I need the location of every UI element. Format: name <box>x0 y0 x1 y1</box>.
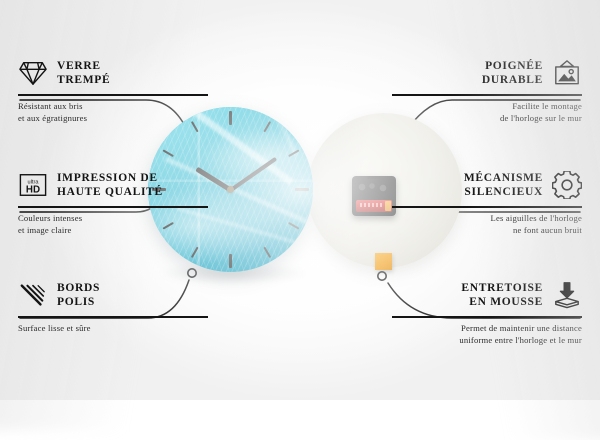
feature-header: BORDS POLIS <box>18 278 208 312</box>
aa-battery <box>356 200 392 212</box>
feature-desc-line2: ne font aucun bruit <box>513 225 582 235</box>
feature-title: VERRE TREMPÉ <box>57 59 110 87</box>
feature-title-line1: POIGNÉE <box>485 60 543 72</box>
battery-label-stripes <box>360 203 384 207</box>
feature-divider <box>18 206 208 208</box>
feature-title-line2: TREMPÉ <box>57 74 110 86</box>
clock-mechanism <box>352 176 396 216</box>
feature-title-line2: HAUTE QUALITÉ <box>57 186 163 198</box>
feature-title: ENTRETOISE EN MOUSSE <box>461 281 543 309</box>
connector-dot-mecanisme <box>409 181 417 189</box>
foam-spacer-arrow-icon <box>552 281 582 309</box>
connector-line-mecanisme <box>418 192 580 212</box>
feature-title-line2: EN MOUSSE <box>469 296 543 308</box>
feature-divider <box>392 206 582 208</box>
feature-header: VERRE TREMPÉ <box>18 56 208 90</box>
feature-divider <box>392 316 582 318</box>
feature-desc-line2: et aux égratignures <box>18 113 87 123</box>
clock-hands-cap <box>227 186 234 193</box>
connector-dot-entretoise <box>378 272 386 280</box>
feature-title-line1: BORDS <box>57 282 100 294</box>
feature-desc-line1: Couleurs intenses <box>18 213 82 223</box>
feature-mecanisme-silencieux: MÉCANISME SILENCIEUX Les aiguilles de l'… <box>392 168 582 236</box>
hour-tick-12 <box>229 111 232 125</box>
feature-title-line2: DURABLE <box>482 74 543 86</box>
feature-header: ultra HD IMPRESSION DE HAUTE QUALITÉ <box>18 168 208 202</box>
feature-title-line2: POLIS <box>57 296 95 308</box>
feature-entretoise-en-mousse: ENTRETOISE EN MOUSSE Permet de maintenir… <box>392 278 582 346</box>
foam-spacer <box>375 253 392 270</box>
feature-description: Facilite le montage de l'horloge sur le … <box>392 100 582 124</box>
feature-title: POIGNÉE DURABLE <box>482 59 543 87</box>
feature-title-line1: ENTRETOISE <box>461 282 543 294</box>
feature-header: POIGNÉE DURABLE <box>392 56 582 90</box>
feature-header: ENTRETOISE EN MOUSSE <box>392 278 582 312</box>
feature-impression-haute-qualite: ultra HD IMPRESSION DE HAUTE QUALITÉ Cou… <box>18 168 208 236</box>
feature-header: MÉCANISME SILENCIEUX <box>392 168 582 202</box>
infographic-canvas: VERRE TREMPÉ Résistant aux bris et aux é… <box>0 0 600 400</box>
polished-edge-icon <box>18 281 48 309</box>
feature-description: Les aiguilles de l'horloge ne font aucun… <box>392 212 582 236</box>
feature-title: MÉCANISME SILENCIEUX <box>464 171 543 199</box>
feature-description: Résistant aux bris et aux égratignures <box>18 100 208 124</box>
feature-title: IMPRESSION DE HAUTE QUALITÉ <box>57 171 163 199</box>
feature-desc-line2: de l'horloge sur le mur <box>500 113 582 123</box>
feature-desc-line2: et image claire <box>18 225 72 235</box>
hour-tick-3 <box>295 188 309 191</box>
feature-description: Surface lisse et sûre <box>18 322 208 334</box>
feature-verre-trempe: VERRE TREMPÉ Résistant aux bris et aux é… <box>18 56 208 124</box>
ultra-hd-icon-text-bottom: HD <box>26 184 40 195</box>
feature-desc-line1: Résistant aux bris <box>18 101 83 111</box>
feature-poignee-durable: POIGNÉE DURABLE Facilite le montage de l… <box>392 56 582 124</box>
feature-desc-line1: Permet de maintenir une distance <box>461 323 582 333</box>
feature-divider <box>392 94 582 96</box>
feature-bords-polis: BORDS POLIS Surface lisse et sûre <box>18 278 208 334</box>
feature-title-line1: IMPRESSION DE <box>57 172 158 184</box>
hour-tick-6 <box>229 254 232 268</box>
gear-icon <box>552 171 582 199</box>
connector-line-entretoise <box>388 283 580 318</box>
feature-desc-line1: Surface lisse et sûre <box>18 323 91 333</box>
wall-mount-picture-icon <box>552 59 582 87</box>
feature-divider <box>18 94 208 96</box>
feature-divider <box>18 316 208 318</box>
feature-description: Couleurs intenses et image claire <box>18 212 208 236</box>
feature-desc-line1: Facilite le montage <box>512 101 582 111</box>
mechanism-hanger-tab <box>368 176 381 179</box>
feature-description: Permet de maintenir une distance uniform… <box>392 322 582 346</box>
diamond-icon <box>18 59 48 87</box>
ultra-hd-icon: ultra HD <box>18 171 48 199</box>
connector-line-poignee <box>398 100 580 143</box>
feature-title-line1: VERRE <box>57 60 101 72</box>
mechanism-surface-detail <box>356 181 392 194</box>
feature-title-line2: SILENCIEUX <box>464 186 543 198</box>
feature-title-line1: MÉCANISME <box>464 172 543 184</box>
feature-desc-line1: Les aiguilles de l'horloge <box>491 213 582 223</box>
feature-desc-line2: uniforme entre l'horloge et le mur <box>459 335 582 345</box>
feature-title: BORDS POLIS <box>57 281 100 309</box>
